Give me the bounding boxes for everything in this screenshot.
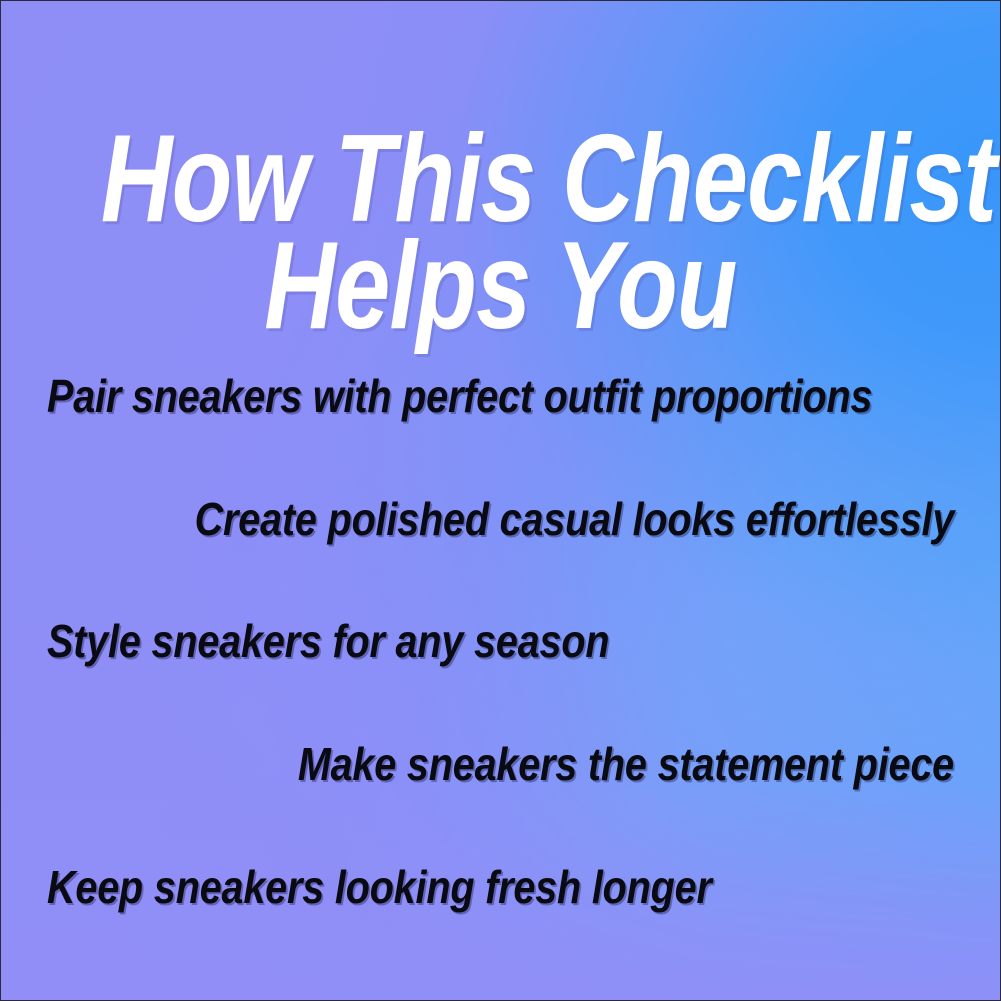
list-item-label: Keep sneakers looking fresh longer	[47, 864, 712, 910]
list-item: Style sneakers for any season	[47, 580, 954, 703]
poster-content: How This Checklist Helps You Pair sneake…	[1, 1, 1000, 1000]
list-item: Create polished casual looks effortlessl…	[47, 458, 954, 581]
benefits-checklist: Pair sneakers with perfect outfit propor…	[47, 335, 954, 948]
page-title-line-2: Helps You	[101, 233, 900, 340]
list-item-label: Pair sneakers with perfect outfit propor…	[47, 373, 872, 419]
list-item-label: Style sneakers for any season	[47, 618, 609, 664]
list-item-label: Create polished casual looks effortlessl…	[194, 496, 954, 542]
list-item-label: Make sneakers the statement piece	[298, 741, 954, 787]
poster-canvas: How This Checklist Helps You Pair sneake…	[0, 0, 1001, 1001]
page-title: How This Checklist Helps You	[101, 126, 900, 339]
list-item: Keep sneakers looking fresh longer	[47, 825, 954, 948]
list-item: Make sneakers the statement piece	[47, 703, 954, 826]
list-item: Pair sneakers with perfect outfit propor…	[47, 335, 954, 458]
